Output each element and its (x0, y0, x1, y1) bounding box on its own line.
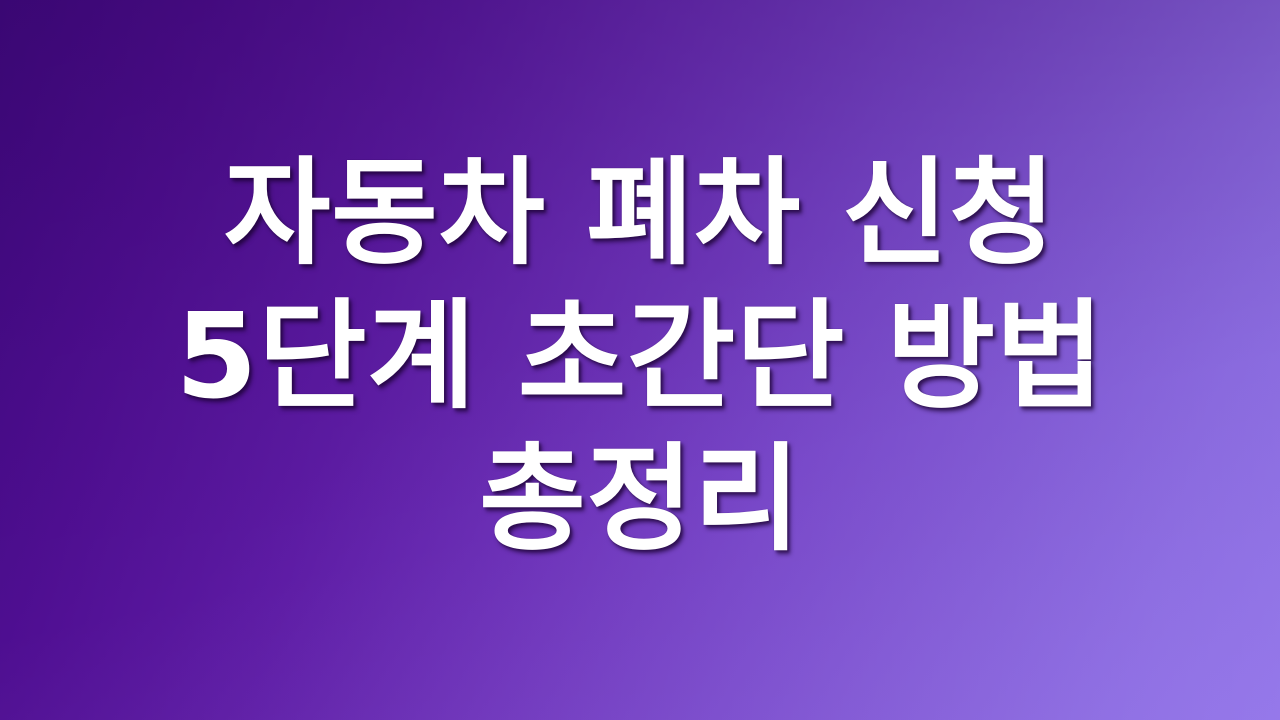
title-line-2: 5단계 초간단 방법 (0, 285, 1280, 428)
title-block: 자동차 폐차 신청 5단계 초간단 방법 총정리 (0, 142, 1280, 579)
title-line-1: 자동차 폐차 신청 (0, 142, 1280, 285)
title-line-3: 총정리 (0, 428, 1280, 571)
thumbnail-canvas: 자동차 폐차 신청 5단계 초간단 방법 총정리 (0, 0, 1280, 720)
